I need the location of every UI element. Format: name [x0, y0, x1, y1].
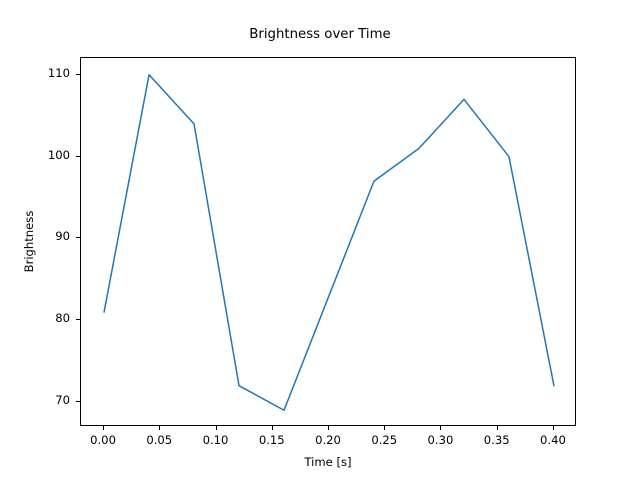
y-tick-mark	[76, 237, 80, 238]
y-tick-label: 80	[30, 311, 70, 325]
plot-area	[80, 57, 576, 426]
x-tick-label: 0.25	[354, 433, 414, 447]
x-tick-label: 0.20	[298, 433, 358, 447]
x-tick-label: 0.05	[129, 433, 189, 447]
x-tick-mark	[328, 426, 329, 430]
y-tick-mark	[76, 401, 80, 402]
y-tick-label: 70	[30, 393, 70, 407]
x-tick-mark	[272, 426, 273, 430]
page-title: Brightness over Time	[0, 27, 640, 43]
x-tick-label: 0.10	[186, 433, 246, 447]
matplotlib-figure: Brightness over Time Brightness 70809010…	[0, 0, 640, 480]
x-tick-label: 0.40	[523, 433, 583, 447]
x-tick-label: 0.00	[73, 433, 133, 447]
y-tick-mark	[76, 74, 80, 75]
line-chart-svg	[81, 58, 577, 427]
x-tick-label: 0.35	[467, 433, 527, 447]
x-tick-mark	[553, 426, 554, 430]
x-tick-label: 0.30	[410, 433, 470, 447]
x-tick-mark	[440, 426, 441, 430]
y-tick-label: 90	[30, 229, 70, 243]
y-tick-mark	[76, 319, 80, 320]
x-tick-mark	[497, 426, 498, 430]
x-tick-label: 0.15	[242, 433, 302, 447]
y-tick-label: 100	[30, 148, 70, 162]
y-tick-mark	[76, 156, 80, 157]
x-tick-mark	[103, 426, 104, 430]
x-tick-mark	[216, 426, 217, 430]
x-axis-label: Time [s]	[80, 455, 576, 469]
x-tick-mark	[384, 426, 385, 430]
data-series-brightness-line	[104, 75, 554, 410]
x-tick-mark	[159, 426, 160, 430]
y-tick-label: 110	[30, 66, 70, 80]
